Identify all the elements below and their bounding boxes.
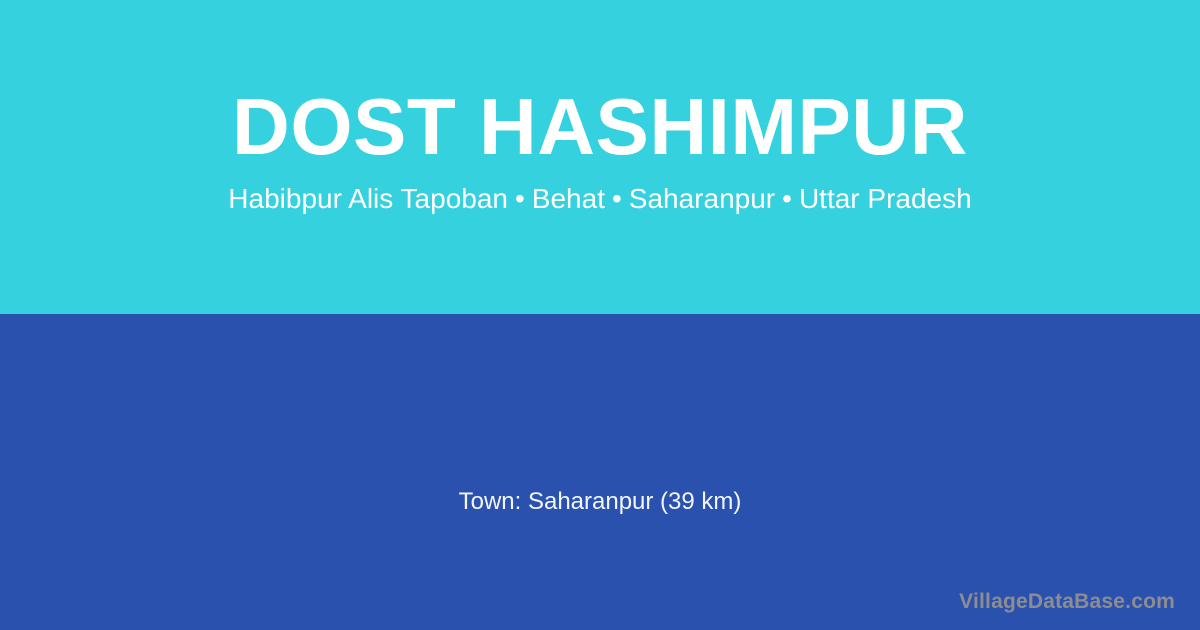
breadcrumb-item-district: Saharanpur — [629, 183, 775, 214]
page-title: DOST HASHIMPUR — [0, 83, 1200, 171]
breadcrumb-separator: • — [508, 183, 532, 214]
breadcrumb-item-state: Uttar Pradesh — [799, 183, 972, 214]
header-band: DOST HASHIMPUR Habibpur Alis Tapoban•Beh… — [0, 0, 1200, 314]
site-watermark: VillageDataBase.com — [959, 590, 1175, 614]
body-band: Town: Saharanpur (39 km) VillageDataBase… — [0, 314, 1200, 630]
breadcrumb-item-panchayat: Habibpur Alis Tapoban — [228, 183, 508, 214]
breadcrumb-separator: • — [605, 183, 629, 214]
breadcrumb-separator: • — [775, 183, 799, 214]
village-info-card: DOST HASHIMPUR Habibpur Alis Tapoban•Beh… — [0, 0, 1200, 630]
breadcrumb-item-block: Behat — [532, 183, 605, 214]
nearest-town-text: Town: Saharanpur (39 km) — [0, 486, 1200, 518]
breadcrumb: Habibpur Alis Tapoban•Behat•Saharanpur•U… — [0, 181, 1200, 217]
